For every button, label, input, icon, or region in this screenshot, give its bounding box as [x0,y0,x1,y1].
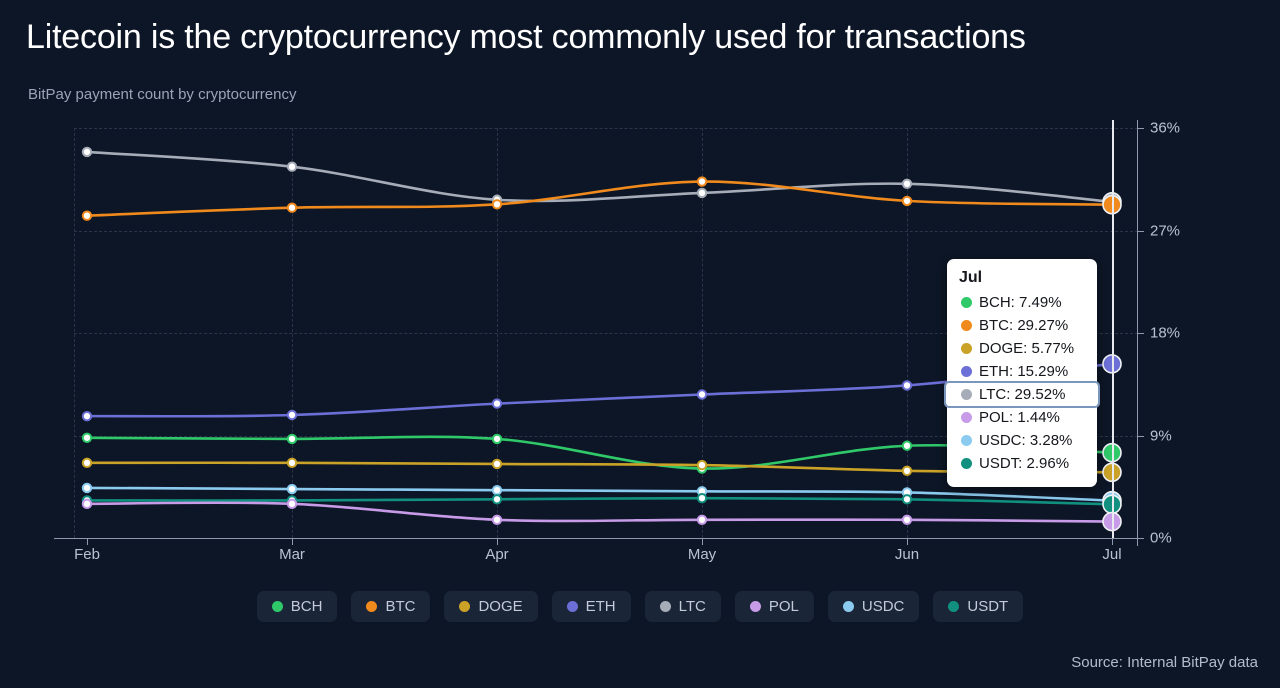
x-tick-mark [292,538,293,545]
tooltip-row-btc: BTC: 29.27% [959,314,1085,337]
y-tick-mark [1137,333,1144,334]
tooltip-color-dot-icon [961,389,972,400]
legend-color-dot-icon [750,601,761,612]
tooltip-row-label: POL: 1.44% [979,409,1060,426]
x-tick-mark [497,538,498,545]
series-tooltip: Jul BCH: 7.49%BTC: 29.27%DOGE: 5.77%ETH:… [947,259,1097,487]
tooltip-row-label: USDT: 2.96% [979,455,1069,472]
legend-item-usdc[interactable]: USDC [828,591,920,622]
tooltip-row-label: LTC: 29.52% [979,386,1065,403]
series-line-pol [87,503,1112,522]
data-point-eth[interactable] [493,399,501,407]
legend-item-label: LTC [679,598,706,615]
tooltip-row-usdt: USDT: 2.96% [959,452,1085,475]
legend-color-dot-icon [459,601,470,612]
x-axis-label: May [688,546,716,563]
data-point-bch[interactable] [83,434,91,442]
tooltip-color-dot-icon [961,297,972,308]
tooltip-color-dot-icon [961,458,972,469]
tooltip-rows: BCH: 7.49%BTC: 29.27%DOGE: 5.77%ETH: 15.… [959,291,1085,475]
legend-color-dot-icon [272,601,283,612]
data-point-btc[interactable] [698,177,706,185]
hover-crosshair-line [1112,120,1114,538]
data-point-ltc[interactable] [83,148,91,156]
data-point-eth[interactable] [288,411,296,419]
data-point-btc[interactable] [493,200,501,208]
data-point-eth[interactable] [83,412,91,420]
data-point-pol[interactable] [288,500,296,508]
x-tick-mark [87,538,88,545]
x-axis-line [54,538,1139,539]
y-axis-label: 18% [1150,325,1180,342]
x-axis-label: Jun [895,546,919,563]
tooltip-color-dot-icon [961,435,972,446]
data-point-usdt[interactable] [493,495,501,503]
legend-item-label: USDT [967,598,1008,615]
source-note: Source: Internal BitPay data [1071,654,1258,671]
data-point-bch[interactable] [493,435,501,443]
legend-item-doge[interactable]: DOGE [444,591,537,622]
legend-item-pol[interactable]: POL [735,591,814,622]
data-point-btc[interactable] [903,197,911,205]
tooltip-color-dot-icon [961,366,972,377]
x-tick-mark [1112,538,1113,545]
legend-color-dot-icon [567,601,578,612]
tooltip-row-label: DOGE: 5.77% [979,340,1074,357]
tooltip-row-ltc: LTC: 29.52% [946,383,1098,406]
data-point-bch[interactable] [903,442,911,450]
data-point-pol[interactable] [903,516,911,524]
x-axis-label: Feb [74,546,100,563]
data-point-btc[interactable] [288,204,296,212]
data-point-usdt[interactable] [698,494,706,502]
y-axis-label: 0% [1150,530,1172,547]
tooltip-color-dot-icon [961,412,972,423]
legend-color-dot-icon [843,601,854,612]
y-tick-mark [1137,231,1144,232]
x-axis-label: Apr [485,546,508,563]
tooltip-row-doge: DOGE: 5.77% [959,337,1085,360]
data-point-pol[interactable] [698,516,706,524]
legend-item-eth[interactable]: ETH [552,591,631,622]
data-point-usdc[interactable] [83,484,91,492]
legend-item-usdt[interactable]: USDT [933,591,1023,622]
y-axis-label: 9% [1150,427,1172,444]
tooltip-row-bch: BCH: 7.49% [959,291,1085,314]
legend-item-bch[interactable]: BCH [257,591,338,622]
legend-item-ltc[interactable]: LTC [645,591,721,622]
tooltip-row-label: ETH: 15.29% [979,363,1068,380]
data-point-usdc[interactable] [288,485,296,493]
data-point-pol[interactable] [493,516,501,524]
data-point-ltc[interactable] [903,180,911,188]
legend-item-btc[interactable]: BTC [351,591,430,622]
x-tick-mark [702,538,703,545]
tooltip-row-usdc: USDC: 3.28% [959,429,1085,452]
data-point-usdc[interactable] [493,486,501,494]
data-point-eth[interactable] [903,381,911,389]
legend-item-label: POL [769,598,799,615]
data-point-doge[interactable] [83,459,91,467]
data-point-doge[interactable] [493,460,501,468]
chart-legend: BCHBTCDOGEETHLTCPOLUSDCUSDT [0,591,1280,622]
legend-item-label: DOGE [478,598,522,615]
tooltip-row-label: BTC: 29.27% [979,317,1068,334]
x-tick-mark [907,538,908,545]
data-point-btc[interactable] [83,211,91,219]
tooltip-row-label: USDC: 3.28% [979,432,1072,449]
y-tick-mark [1137,538,1144,539]
y-axis-label: 27% [1150,222,1180,239]
tooltip-title: Jul [959,269,1085,287]
data-point-bch[interactable] [288,435,296,443]
tooltip-row-eth: ETH: 15.29% [959,360,1085,383]
tooltip-color-dot-icon [961,343,972,354]
legend-item-label: USDC [862,598,905,615]
data-point-ltc[interactable] [698,189,706,197]
legend-color-dot-icon [366,601,377,612]
y-axis-label: 36% [1150,120,1180,137]
legend-color-dot-icon [660,601,671,612]
legend-item-label: BTC [385,598,415,615]
chart-subtitle: BitPay payment count by cryptocurrency [28,86,296,103]
x-axis-label: Jul [1102,546,1121,563]
data-point-pol[interactable] [83,500,91,508]
data-point-eth[interactable] [698,390,706,398]
page-title: Litecoin is the cryptocurrency most comm… [26,18,1026,57]
data-point-doge[interactable] [903,467,911,475]
tooltip-row-pol: POL: 1.44% [959,406,1085,429]
y-tick-mark [1137,436,1144,437]
data-point-doge[interactable] [698,461,706,469]
chart-page: Litecoin is the cryptocurrency most comm… [0,0,1280,688]
legend-color-dot-icon [948,601,959,612]
tooltip-color-dot-icon [961,320,972,331]
y-tick-mark [1137,128,1144,129]
series-line-ltc [87,152,1112,202]
tooltip-row-label: BCH: 7.49% [979,294,1062,311]
data-point-usdt[interactable] [903,495,911,503]
x-axis-label: Mar [279,546,305,563]
legend-item-label: BCH [291,598,323,615]
data-point-doge[interactable] [288,459,296,467]
data-point-ltc[interactable] [288,163,296,171]
legend-item-label: ETH [586,598,616,615]
